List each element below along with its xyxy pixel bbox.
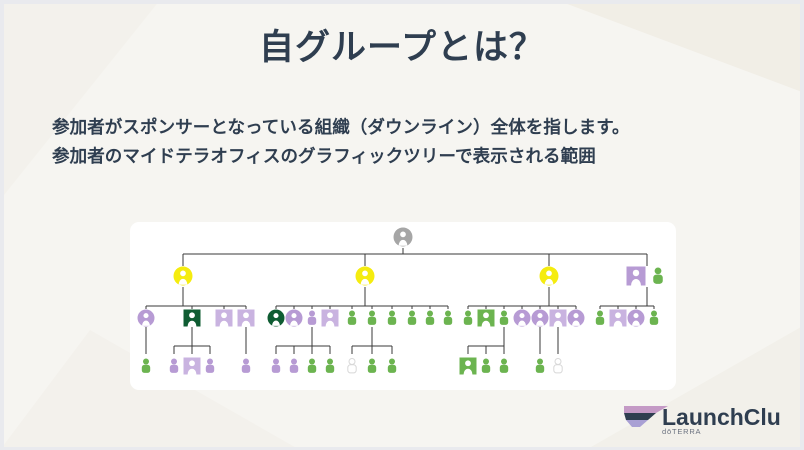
page-title: 自グループとは？ xyxy=(0,28,804,68)
tree-node-square-green-dark xyxy=(184,310,201,327)
tree-node-circle-purple xyxy=(532,310,549,327)
org-tree-diagram xyxy=(130,222,676,390)
tree-node-person-purple xyxy=(272,359,280,373)
tree-node-circle-purple xyxy=(286,310,303,327)
body-text: 参加者がスポンサーとなっている組織（ダウンライン）全体を指します。 参加者のマイ… xyxy=(52,113,772,171)
tree-node-square-purple-light xyxy=(216,310,233,327)
tree-node-person-purple xyxy=(206,359,214,373)
tree-node-person-green xyxy=(368,311,376,325)
tree-node-person-green xyxy=(326,359,334,373)
tree-node-person-green xyxy=(348,311,356,325)
org-tree-card xyxy=(130,222,676,390)
tree-node-person-green xyxy=(408,311,416,325)
tree-node-person-purple xyxy=(242,359,250,373)
tree-node-person-green xyxy=(388,359,396,373)
tree-node-person-empty xyxy=(554,359,562,373)
tree-node-square-purple-light xyxy=(550,310,567,327)
tree-node-circle-green-dark xyxy=(268,310,285,327)
tree-node-square-green xyxy=(460,358,477,375)
tree-node-circle-gray xyxy=(394,228,413,247)
tree-node-person-green xyxy=(653,268,663,284)
tree-node-person-empty xyxy=(348,359,356,373)
tree-node-square-purple xyxy=(627,267,646,286)
tree-node-square-purple-light xyxy=(610,310,627,327)
body-line-1: 参加者がスポンサーとなっている組織（ダウンライン）全体を指します。 xyxy=(52,113,772,142)
tree-node-square-green xyxy=(478,310,495,327)
tree-node-person-green xyxy=(500,311,508,325)
tree-node-person-green xyxy=(444,311,452,325)
frame-edge-left xyxy=(0,0,4,450)
tree-node-person-purple xyxy=(308,311,316,325)
tree-node-circle-purple xyxy=(138,310,155,327)
tree-node-circle-yellow xyxy=(540,267,559,286)
frame-edge-top xyxy=(0,0,804,4)
tree-node-person-green xyxy=(536,359,544,373)
frame-edge-right xyxy=(800,0,804,450)
tree-node-person-green xyxy=(368,359,376,373)
tree-node-square-purple-light xyxy=(184,358,201,375)
tree-node-circle-purple xyxy=(628,310,645,327)
body-line-2: 参加者のマイドテラオフィスのグラフィックツリーで表示される範囲 xyxy=(52,142,772,171)
tree-node-person-green xyxy=(596,311,604,325)
tree-node-circle-yellow xyxy=(356,267,375,286)
tree-node-square-purple-light xyxy=(322,310,339,327)
logo-subbrand: dōTERRA xyxy=(662,427,701,436)
launchclub-logo: LaunchClub dōTERRA xyxy=(622,400,782,438)
tree-node-square-purple-light xyxy=(238,310,255,327)
tree-node-person-purple xyxy=(290,359,298,373)
tree-node-person-green xyxy=(482,359,490,373)
tree-node-person-green xyxy=(426,311,434,325)
tree-node-circle-purple xyxy=(514,310,531,327)
tree-node-person-green xyxy=(388,311,396,325)
tree-node-person-green xyxy=(308,359,316,373)
tree-node-person-green xyxy=(500,359,508,373)
tree-node-circle-purple xyxy=(568,310,585,327)
tree-node-person-green xyxy=(464,311,472,325)
tree-node-person-green xyxy=(650,311,658,325)
tree-node-person-green xyxy=(142,359,150,373)
tree-node-circle-yellow xyxy=(174,267,193,286)
tree-node-person-purple xyxy=(170,359,178,373)
slide-canvas: 自グループとは？ 参加者がスポンサーとなっている組織（ダウンライン）全体を指しま… xyxy=(0,0,804,450)
